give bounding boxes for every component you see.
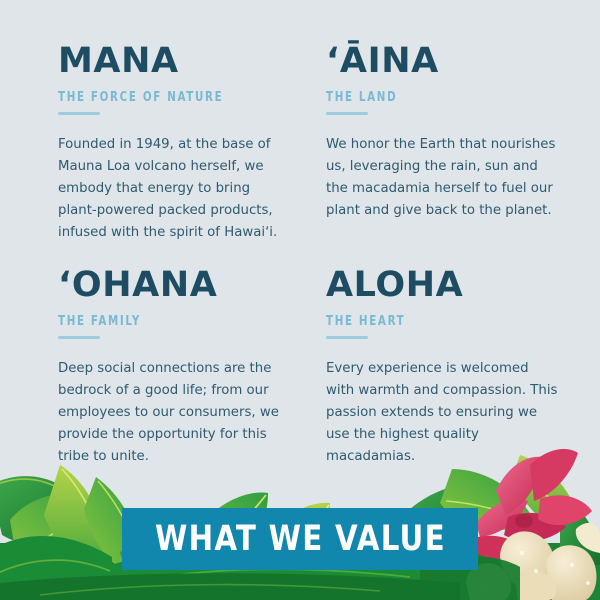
value-block-aina: ʻĀINA THE LAND We honor the Earth that n… [326,44,576,246]
value-body: Every experience is welcomed with warmth… [326,358,558,468]
values-grid: MANA THE FORCE OF NATURE Founded in 1949… [0,0,600,470]
value-body: Founded in 1949, at the base of Mauna Lo… [58,134,290,244]
value-subtitle: THE FAMILY [58,314,278,329]
value-subtitle: THE LAND [326,90,546,105]
value-title: MANA [58,44,308,79]
value-underline [326,336,368,339]
value-subtitle: THE HEART [326,314,546,329]
value-body: Deep social connections are the bedrock … [58,358,290,468]
value-underline [326,112,368,115]
value-subtitle: THE FORCE OF NATURE [58,90,278,105]
value-title: ALOHA [326,268,576,303]
value-graphic: MANA THE FORCE OF NATURE Founded in 1949… [0,0,600,600]
value-title: ʻĀINA [326,44,576,79]
value-underline [58,112,100,115]
what-we-value-banner[interactable]: WHAT WE VALUE [122,508,478,570]
value-body: We honor the Earth that nourishes us, le… [326,134,558,222]
value-block-mana: MANA THE FORCE OF NATURE Founded in 1949… [58,44,308,246]
value-underline [58,336,100,339]
value-title: ʻOHANA [58,268,308,303]
value-block-aloha: ALOHA THE HEART Every experience is welc… [326,246,576,470]
banner-label: WHAT WE VALUE [155,519,446,559]
value-block-ohana: ʻOHANA THE FAMILY Deep social connection… [58,246,308,470]
